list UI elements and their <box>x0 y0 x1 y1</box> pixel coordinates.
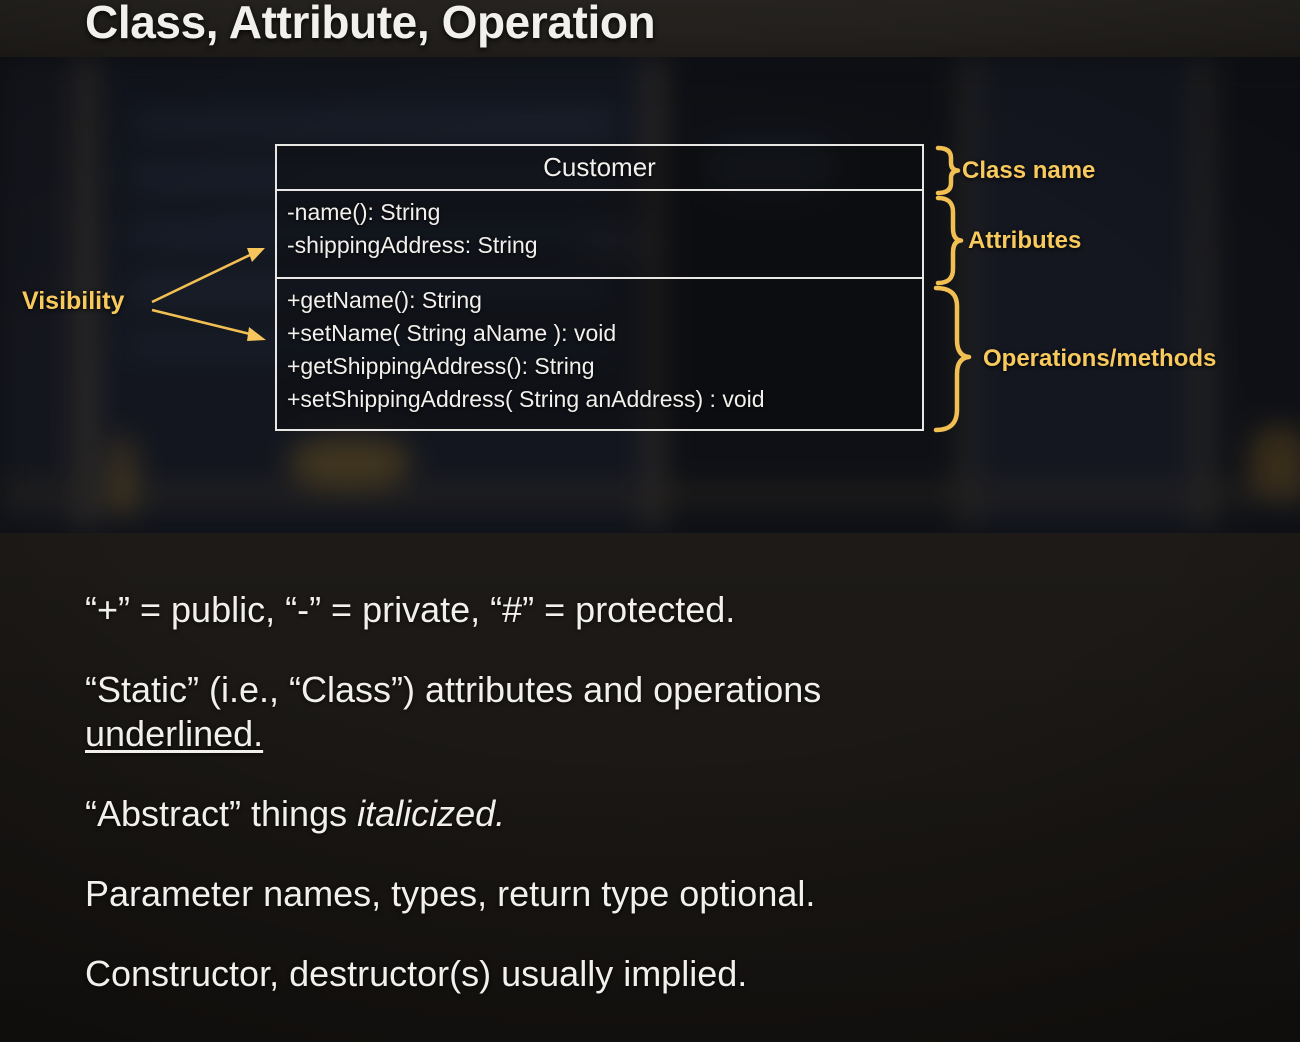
bullet-static-underlined-word: underlined. <box>85 713 263 754</box>
uml-operation-row: +setShippingAddress( String anAddress) :… <box>287 383 922 416</box>
uml-attributes-compartment: -name(): String -shippingAddress: String <box>277 191 922 279</box>
bullet-item-constructor: Constructor, destructor(s) usually impli… <box>85 952 1215 996</box>
bullet-abstract-text: “Abstract” things <box>85 793 357 834</box>
annotation-class-name: Class name <box>962 157 1095 185</box>
bullet-static-text: “Static” (i.e., “Class”) attributes and … <box>85 669 821 710</box>
uml-class-name-compartment: Customer <box>277 146 922 191</box>
uml-operation-row: +getShippingAddress(): String <box>287 350 922 383</box>
bullet-item-parameters: Parameter names, types, return type opti… <box>85 872 1215 916</box>
uml-attribute-row: -shippingAddress: String <box>287 229 922 262</box>
bullet-item-static: “Static” (i.e., “Class”) attributes and … <box>85 668 1215 756</box>
slide-canvas: Class, Attribute, Operation Customer -na… <box>0 0 1300 1042</box>
bullet-item-abstract: “Abstract” things italicized. <box>85 792 1215 836</box>
bullet-abstract-italic-word: italicized. <box>357 793 505 834</box>
uml-operations-compartment: +getName(): String +setName( String aNam… <box>277 279 922 429</box>
bullet-list: “+” = public, “-” = private, “#” = prote… <box>85 588 1215 1032</box>
bullet-item-visibility-symbols: “+” = public, “-” = private, “#” = prote… <box>85 588 1215 632</box>
uml-attribute-row: -name(): String <box>287 196 922 229</box>
uml-class-box: Customer -name(): String -shippingAddres… <box>275 144 924 431</box>
uml-operation-row: +setName( String aName ): void <box>287 317 922 350</box>
uml-operation-row: +getName(): String <box>287 284 922 317</box>
annotation-operations: Operations/methods <box>983 345 1216 373</box>
page-title: Class, Attribute, Operation <box>85 0 655 49</box>
annotation-visibility: Visibility <box>22 287 124 316</box>
uml-class-name: Customer <box>543 152 656 183</box>
annotation-attributes: Attributes <box>968 227 1081 255</box>
